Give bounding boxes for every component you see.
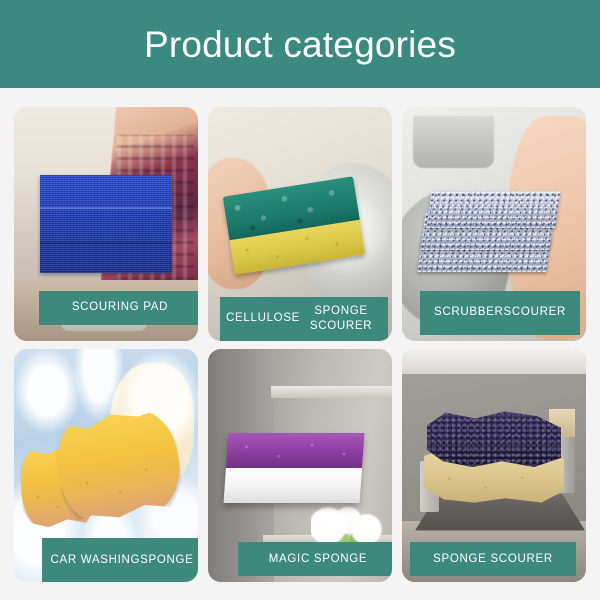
category-card-sponge-scourer[interactable]: SPONGE SCOURER [402,349,586,583]
photo-mesh-pad-top [426,191,560,228]
label-line-2: SPONGE [140,553,193,568]
photo-sponge-purple-top [226,433,365,468]
photo-blue-pad-stack [40,175,172,273]
category-card-car-washing-sponge[interactable]: CAR WASHING SPONGE [14,349,198,583]
photo-sponge-scourer [424,409,564,502]
label-line-1: CELLULOSE [226,311,300,326]
photo-sponge-dark-scour-top [427,409,561,467]
page-header: Product categories [0,0,600,88]
photo-magic-sponge [224,433,365,503]
category-card-scrubber-scourer[interactable]: SCRUBBER SCOURER [402,107,586,341]
label-line-1: SCRUBBER [434,305,504,320]
photo-mesh-pad-stack [420,191,560,275]
category-label-cellulose-sponge-scourer: CELLULOSE SPONGE SCOURER [220,297,388,341]
label-line-2: SPONGE SCOURER [300,304,382,334]
page-title: Product categories [144,26,456,63]
category-label-sponge-scourer: SPONGE SCOURER [410,542,576,576]
category-card-magic-sponge[interactable]: MAGIC SPONGE [208,349,392,583]
category-card-scouring-pad[interactable]: SCOURING PAD [14,107,198,341]
photo-top-strip [402,349,586,375]
photo-sponge-white-body [224,466,363,502]
category-label-magic-sponge: MAGIC SPONGE [238,542,392,576]
category-label-scrubber-scourer: SCRUBBER SCOURER [420,291,580,335]
category-label-car-washing-sponge: CAR WASHING SPONGE [42,538,198,582]
photo-shelf-upper [271,386,392,398]
photo-faucet [413,116,494,167]
category-grid: SCOURING PAD CELLULOSE SPONGE SCOURER [0,88,600,600]
label-line-1: CAR WASHING [50,553,140,568]
category-label-scouring-pad: SCOURING PAD [39,291,198,325]
label-line-2: SCOURER [504,305,566,320]
category-card-cellulose-sponge-scourer[interactable]: CELLULOSE SPONGE SCOURER [208,107,392,341]
